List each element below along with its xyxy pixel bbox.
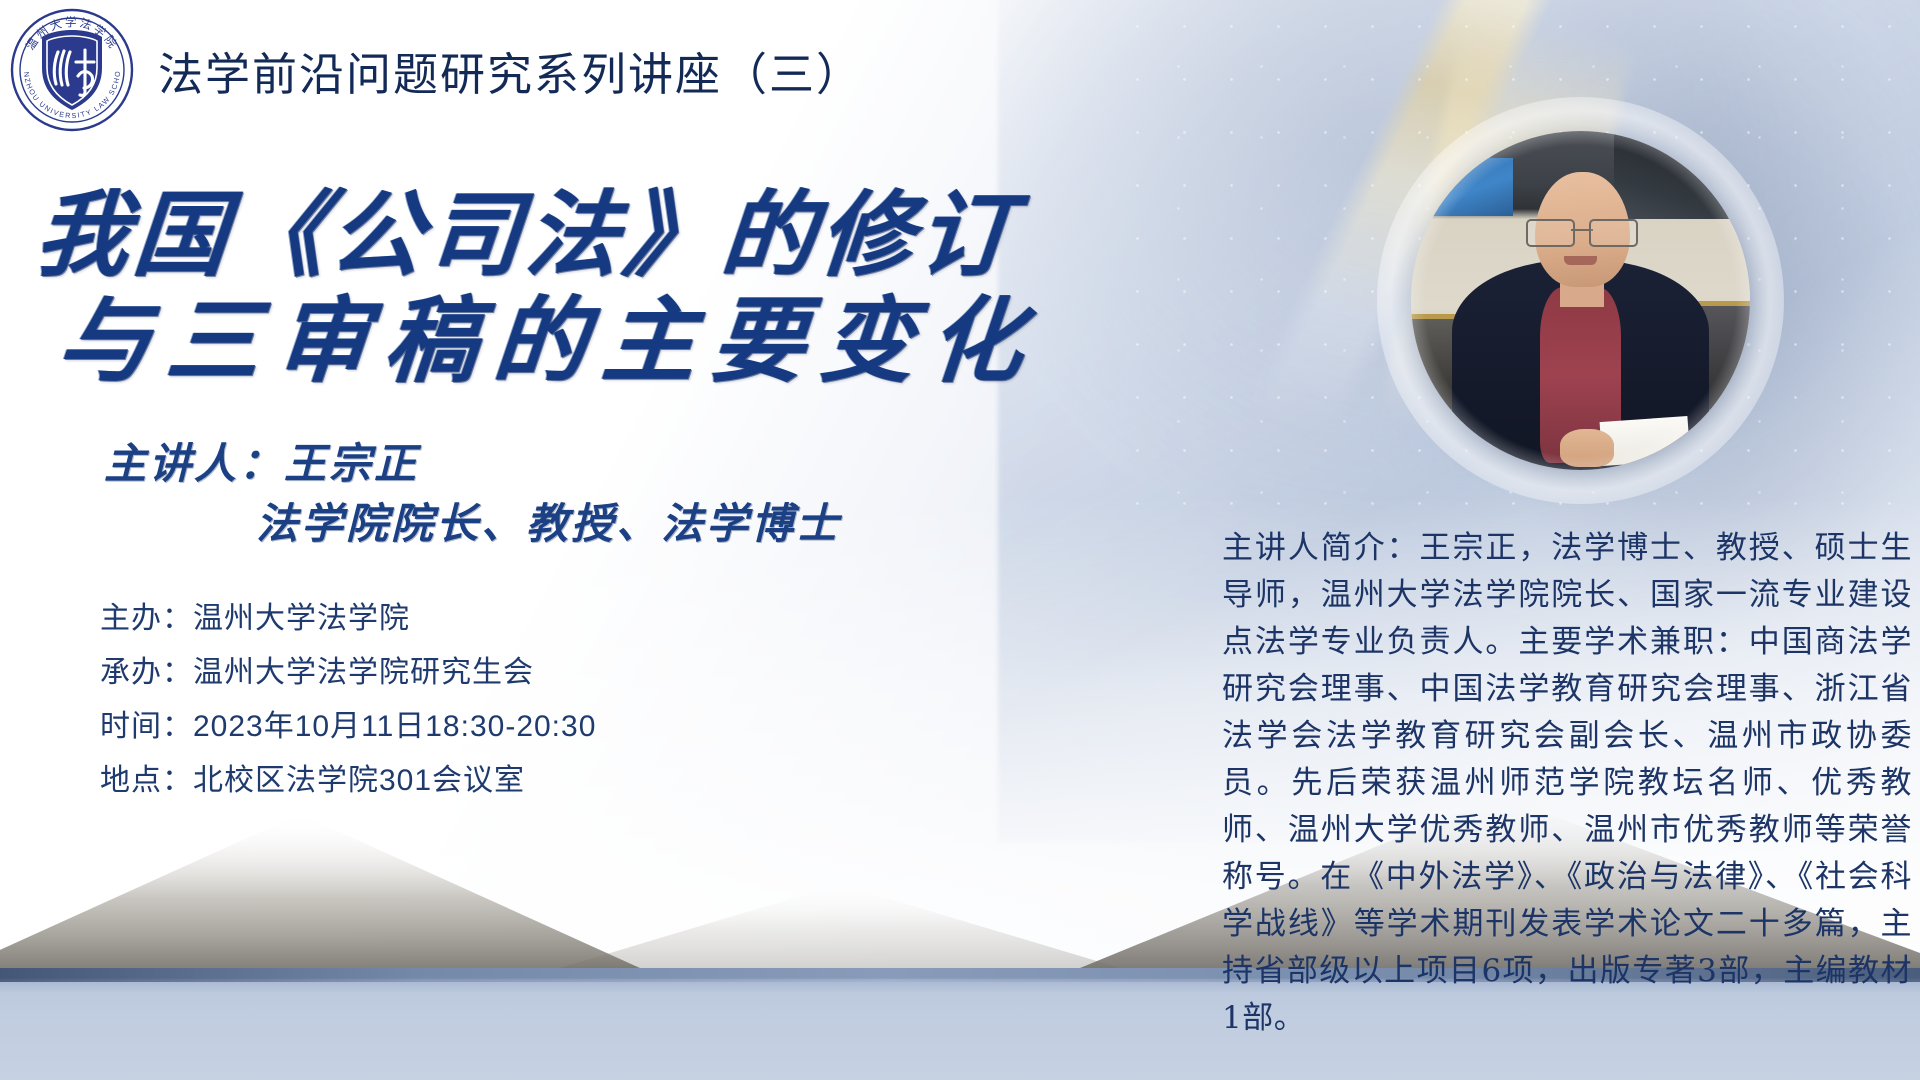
speaker-credentials-line: 法学院院长、教授、法学博士 [104, 494, 841, 554]
detail-row-time: 时间：2023年10月11日18:30-20:30 [100, 700, 596, 754]
series-title: 法学前沿问题研究系列讲座（三） [158, 38, 863, 103]
photo-person-hand [1560, 429, 1614, 466]
detail-row-organizer: 主办：温州大学法学院 [100, 592, 596, 646]
speaker-portrait [1411, 131, 1750, 470]
speaker-photo [1411, 131, 1750, 470]
speaker-name-line: 主讲人：王宗正 [104, 434, 841, 494]
speaker-bio: 主讲人简介：王宗正，法学博士、教授、硕士生导师，温州大学法学院院长、国家一流专业… [1222, 525, 1912, 1042]
detail-row-location: 地点：北校区法学院301会议室 [100, 754, 596, 808]
speaker-bio-text: 主讲人简介：王宗正，法学博士、教授、硕士生导师，温州大学法学院院长、国家一流专业… [1222, 525, 1912, 1042]
page-title: 我国《公司法》的修订 与三审稿的主要变化 [36, 182, 1026, 394]
law-school-seal-icon: 温州大学法学院 WENZHOU UNIVERSITY LAW SCHOOL [8, 6, 136, 134]
poster-header: 温州大学法学院 WENZHOU UNIVERSITY LAW SCHOOL 法学… [8, 6, 863, 134]
photo-person-glasses [1526, 219, 1638, 243]
event-details-list: 主办：温州大学法学院 承办：温州大学法学院研究生会 时间：2023年10月11日… [100, 592, 596, 808]
photo-wall-screen [1425, 158, 1513, 216]
speaker-block: 主讲人：王宗正 法学院院长、教授、法学博士 [104, 434, 841, 553]
photo-dark-wall [1614, 131, 1750, 219]
detail-row-co-organizer: 承办：温州大学法学院研究生会 [100, 646, 596, 700]
page-title-line-2: 与三审稿的主要变化 [31, 288, 1030, 394]
lecture-poster: 温州大学法学院 WENZHOU UNIVERSITY LAW SCHOOL 法学… [0, 0, 1920, 1080]
photo-person-mouth [1564, 256, 1598, 264]
page-title-line-1: 我国《公司法》的修订 [31, 182, 1030, 288]
